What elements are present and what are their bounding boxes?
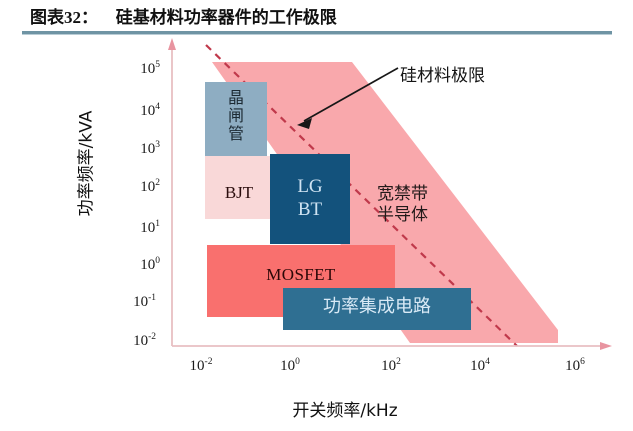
title-main: 硅基材料功率器件的工作极限 (116, 8, 337, 28)
y-tick-3: 103 (118, 141, 160, 158)
region-mosfet-label: MOSFET (207, 266, 395, 284)
y-tick-0-exp: 0 (155, 256, 160, 266)
y-tick-5: 105 (118, 61, 160, 78)
y-tick-4: 104 (118, 103, 160, 120)
y-tick-neg2-exp: -2 (148, 332, 156, 342)
region-thyristor-label: 晶 闸 管 (205, 89, 267, 143)
y-tick-3-exp: 3 (155, 140, 160, 150)
y-tick-neg1-exp: -1 (148, 293, 156, 303)
x-axis-arrow (600, 342, 612, 350)
y-tick-5-exp: 5 (155, 60, 160, 70)
annotation-wide-bandgap: 宽禁带 半导体 (377, 184, 428, 227)
x-tick-6-exp: 6 (580, 357, 585, 367)
chart-title-bar: 图表32： 硅基材料功率器件的工作极限 (0, 0, 633, 33)
region-igbt-label: LG BT (270, 176, 350, 222)
y-axis-arrow (168, 38, 176, 50)
region-power-ic-label: 功率集成电路 (283, 298, 471, 317)
x-tick-0: 100 (267, 358, 313, 375)
x-tick-neg2: 10-2 (178, 358, 224, 375)
region-igbt[interactable]: LG BT (270, 154, 350, 244)
y-tick-1: 101 (118, 220, 160, 237)
region-power-ic[interactable]: 功率集成电路 (283, 288, 471, 330)
x-tick-6: 106 (552, 358, 598, 375)
x-tick-4: 104 (457, 358, 503, 375)
plot-area: 晶 闸 管 BJT LG BT MOSFET 功率集成电路 硅材料极限 宽禁带 … (0, 33, 633, 431)
page-title: 图表32： 硅基材料功率器件的工作极限 (30, 3, 337, 28)
y-tick-4-exp: 4 (155, 102, 160, 112)
region-thyristor[interactable]: 晶 闸 管 (205, 82, 267, 156)
x-tick-2-exp: 2 (396, 357, 401, 367)
y-tick-1-exp: 1 (155, 219, 160, 229)
y-tick-2-exp: 2 (155, 178, 160, 188)
x-tick-2: 102 (368, 358, 414, 375)
y-axis-title: 功率频率/kVA (72, 74, 97, 254)
x-tick-4-exp: 4 (485, 357, 490, 367)
title-prefix: 图表32： (30, 8, 98, 27)
x-tick-0-exp: 0 (295, 357, 300, 367)
y-tick-neg1: 10-1 (114, 294, 156, 311)
chart-screenshot: 图表32： 硅基材料功率器件的工作极限 晶 闸 管 B (0, 0, 633, 431)
x-tick-neg2-exp: -2 (205, 357, 213, 367)
region-bjt-label: BJT (205, 184, 273, 202)
y-tick-neg2: 10-2 (114, 333, 156, 350)
y-tick-0: 100 (118, 257, 160, 274)
y-tick-2: 102 (118, 179, 160, 196)
annotation-silicon-limit: 硅材料极限 (400, 61, 485, 86)
x-axis-title: 开关频率/kHz (180, 396, 510, 421)
region-bjt[interactable]: BJT (205, 156, 273, 219)
